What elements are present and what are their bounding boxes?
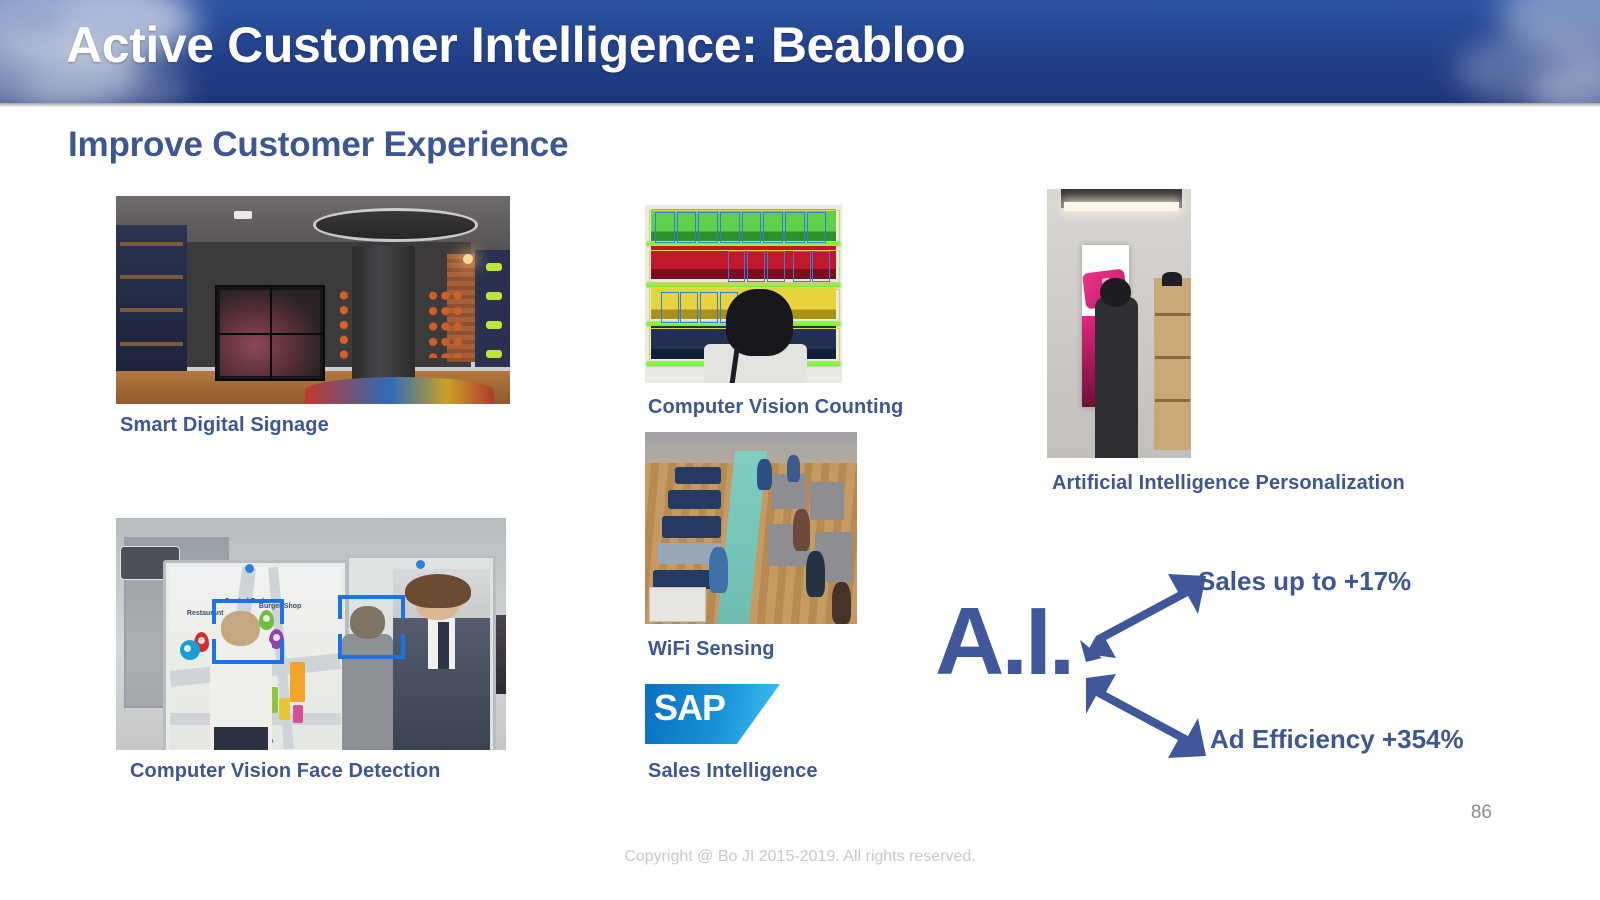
sap-wordmark: SAP xyxy=(654,690,725,726)
face-detection-bracket-icon xyxy=(245,599,284,624)
ai-label: A.I. xyxy=(935,594,1072,690)
face-detection-bracket-icon xyxy=(370,595,405,620)
caption-ai-personalization: Artificial Intelligence Personalization xyxy=(1052,472,1405,495)
face-detection-bracket-icon xyxy=(338,595,373,620)
face-detection-bracket-icon xyxy=(338,634,373,659)
copyright-notice: Copyright @ Bo JI 2015-2019. All rights … xyxy=(0,848,1600,866)
ai-outcomes-diagram: A.I. Sales up to +17% Ad Efficiency +354… xyxy=(930,552,1530,782)
page-number: 86 xyxy=(1471,802,1492,824)
caption-face-detection: Computer Vision Face Detection xyxy=(130,760,440,783)
outcome-sales-uplift: Sales up to +17% xyxy=(1198,566,1411,597)
slide-header-banner: Active Customer Intelligence: Beabloo xyxy=(0,0,1600,103)
overhead-store-aisle-photo xyxy=(645,432,857,624)
beverage-shelf-detection-photo xyxy=(645,205,842,383)
caption-smart-digital-signage: Smart Digital Signage xyxy=(120,414,329,437)
sap-logo: SAP ® xyxy=(645,684,780,744)
caption-wifi-sensing: WiFi Sensing xyxy=(648,638,775,661)
header-divider xyxy=(0,103,1600,107)
caption-computer-vision-counting: Computer Vision Counting xyxy=(648,396,903,419)
retail-store-video-wall-photo xyxy=(116,196,510,404)
arrow-up-right-icon xyxy=(1080,562,1210,662)
digital-mirror-display-photo xyxy=(1047,189,1191,458)
arrow-down-right-icon xyxy=(1080,670,1210,770)
mall-kiosk-face-detection-photo: Restaurant Central Park Burger Shop Midt… xyxy=(116,518,506,750)
slide: Active Customer Intelligence: Beabloo Im… xyxy=(0,0,1600,900)
outcome-ad-efficiency: Ad Efficiency +354% xyxy=(1210,724,1464,755)
page-title: Active Customer Intelligence: Beabloo xyxy=(66,16,965,74)
section-subtitle: Improve Customer Experience xyxy=(68,125,568,165)
face-detection-bracket-icon xyxy=(370,634,405,659)
registered-trademark-icon: ® xyxy=(753,731,760,741)
face-detection-bracket-icon xyxy=(245,639,284,664)
caption-sales-intelligence: Sales Intelligence xyxy=(648,760,818,783)
